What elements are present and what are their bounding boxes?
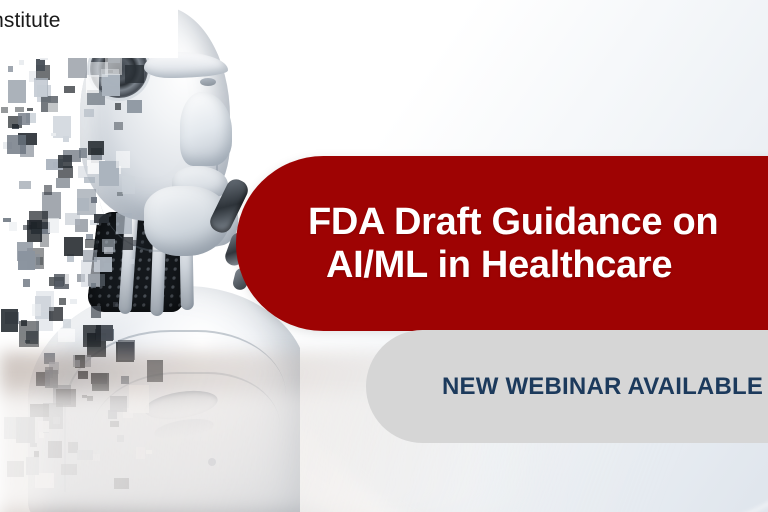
headline-banner: FDA Draft Guidance on AI/ML in Healthcar… [236,156,768,331]
pixel-block [84,109,94,117]
pixel-block [65,213,80,225]
webinar-badge-label: NEW WEBINAR AVAILABLE [442,373,763,401]
robot-eye [200,78,216,86]
pixel-block [33,271,41,277]
pixel-block [77,198,89,211]
pixel-block [9,222,17,232]
headline-text: FDA Draft Guidance on AI/ML in Healthcar… [308,201,718,286]
pixel-block [114,122,123,130]
pixel-block [63,136,69,143]
pixel-block [53,162,58,169]
pixel-block [113,302,118,307]
pixel-block [104,247,113,255]
pixel-block [127,100,142,113]
headline-line-1: FDA Draft Guidance on [308,201,718,243]
pixel-block [84,177,95,183]
pixel-block [1,107,8,113]
brand-name: ohner Institute [0,10,178,32]
pixel-block [18,113,30,125]
pixel-block [1,309,18,332]
pixel-block [70,299,77,303]
pixel-block [86,75,99,93]
pixel-block [122,237,133,251]
pixel-block [59,298,66,305]
pixel-block [29,211,48,230]
pixel-block [89,62,108,77]
pixel-block [32,304,41,316]
pixel-block [91,197,97,203]
pixel-block [122,176,135,194]
pixel-block [48,218,59,233]
pixel-block [44,185,52,195]
pixel-block [91,283,96,289]
pixel-block [7,135,26,154]
pixel-block [116,151,130,168]
pixel-block [79,148,87,158]
headline-line-2: AI/ML in Healthcare [308,244,718,287]
pixel-block [19,60,24,65]
pixel-block [18,251,35,269]
pixel-block [15,107,24,112]
pixel-block [116,213,132,234]
pixel-block [48,103,68,116]
pixel-block [23,279,30,287]
pixel-block [34,80,47,97]
pixel-block [91,306,101,319]
pixel-block [94,214,109,223]
pixel-block [78,166,88,178]
promo-banner: ohner Institute w Zealand FDA Draft Guid… [0,0,768,512]
pixel-block [83,250,97,262]
pixel-block [63,319,71,328]
pixel-block [8,66,13,73]
brand-logo[interactable]: ohner Institute w Zealand [0,0,178,58]
pixel-block [8,80,26,103]
pixel-block [65,274,76,283]
pixel-block [64,86,75,93]
pixel-block [64,237,83,256]
pixel-block [83,325,101,347]
pixel-block [26,331,38,343]
pixel-block [58,329,75,342]
pixel-block [88,141,104,155]
webinar-badge[interactable]: NEW WEBINAR AVAILABLE [366,330,768,443]
pixel-block [68,57,87,78]
pixel-block [58,155,72,168]
pixel-block [129,259,134,264]
pixel-block [27,108,33,112]
pixel-block [51,133,56,136]
pixel-block [133,240,144,247]
pixel-block [125,65,144,84]
pixel-block [36,59,45,71]
pixel-block [115,103,121,110]
pixel-block [56,178,70,189]
pixel-block [19,181,31,190]
pixel-block [85,239,98,248]
brand-tagline: w Zealand [0,34,178,48]
